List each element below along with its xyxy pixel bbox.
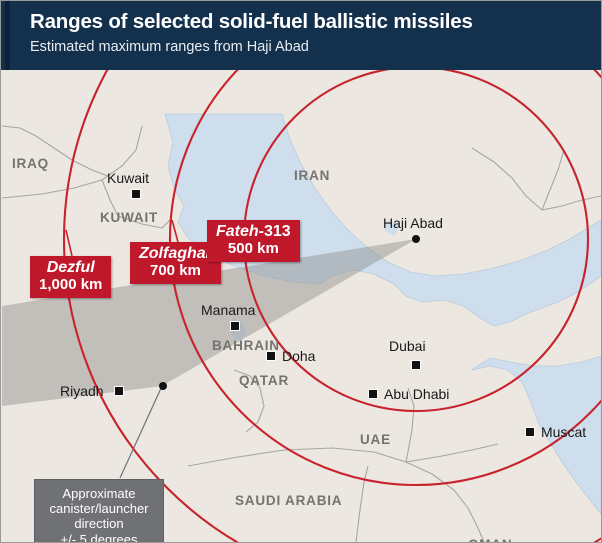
header-banner: Ranges of selected solid-fuel ballistic … — [1, 1, 602, 70]
city-label-abu-dhabi: Abu Dhabi — [384, 386, 449, 402]
legend-line-3: direction — [42, 516, 156, 531]
range-callout-fateh-313: Fateh-313 500 km — [207, 220, 300, 262]
missile-range: 1,000 km — [39, 277, 102, 293]
legend-line-2: canister/launcher — [42, 501, 156, 516]
page-subtitle: Estimated maximum ranges from Haji Abad — [30, 39, 309, 55]
range-callout-dezful: Dezful 1,000 km — [30, 256, 111, 298]
city-label-muscat: Muscat — [541, 424, 586, 440]
legend-line-4: +/- 5 degrees — [42, 532, 156, 542]
map-canvas: IRAQ KUWAIT IRAN BAHRAIN QATAR UAE SAUDI… — [2, 70, 601, 542]
header-accent-bar — [5, 1, 10, 70]
city-label-kuwait: Kuwait — [107, 170, 149, 186]
country-label: IRAN — [294, 168, 330, 183]
city-marker-doha — [266, 351, 276, 361]
map-graphics — [2, 70, 601, 542]
city-marker-muscat — [525, 427, 535, 437]
city-label-riyadh: Riyadh — [60, 383, 104, 399]
page-title: Ranges of selected solid-fuel ballistic … — [30, 10, 473, 34]
city-marker-kuwait — [131, 189, 141, 199]
city-label-manama: Manama — [201, 302, 255, 318]
city-marker-dubai — [411, 360, 421, 370]
country-label: QATAR — [239, 373, 289, 388]
city-label-haji-abad: Haji Abad — [383, 215, 443, 231]
country-label: OMAN — [468, 537, 512, 542]
missile-name: Fateh-313 — [216, 224, 291, 241]
missile-name: Dezful — [39, 260, 102, 277]
city-marker-riyadh — [114, 386, 124, 396]
city-label-doha: Doha — [282, 348, 315, 364]
infographic-map: Ranges of selected solid-fuel ballistic … — [0, 0, 602, 543]
missile-range: 700 km — [139, 263, 212, 279]
legend-anchor-dot — [159, 382, 167, 390]
country-label: KUWAIT — [100, 210, 158, 225]
city-marker-haji-abad — [412, 235, 420, 243]
missile-name-suffix: -313 — [259, 223, 291, 240]
country-label: IRAQ — [12, 156, 49, 171]
city-marker-manama — [230, 321, 240, 331]
country-label: SAUDI ARABIA — [235, 493, 342, 508]
missile-range: 500 km — [216, 241, 291, 257]
country-label: UAE — [360, 432, 391, 447]
city-label-dubai: Dubai — [389, 338, 426, 354]
legend-line-1: Approximate — [42, 486, 156, 501]
direction-legend-box: Approximate canister/launcher direction … — [34, 479, 164, 542]
missile-name: Zolfaghar — [139, 246, 212, 263]
city-marker-abu-dhabi — [368, 389, 378, 399]
